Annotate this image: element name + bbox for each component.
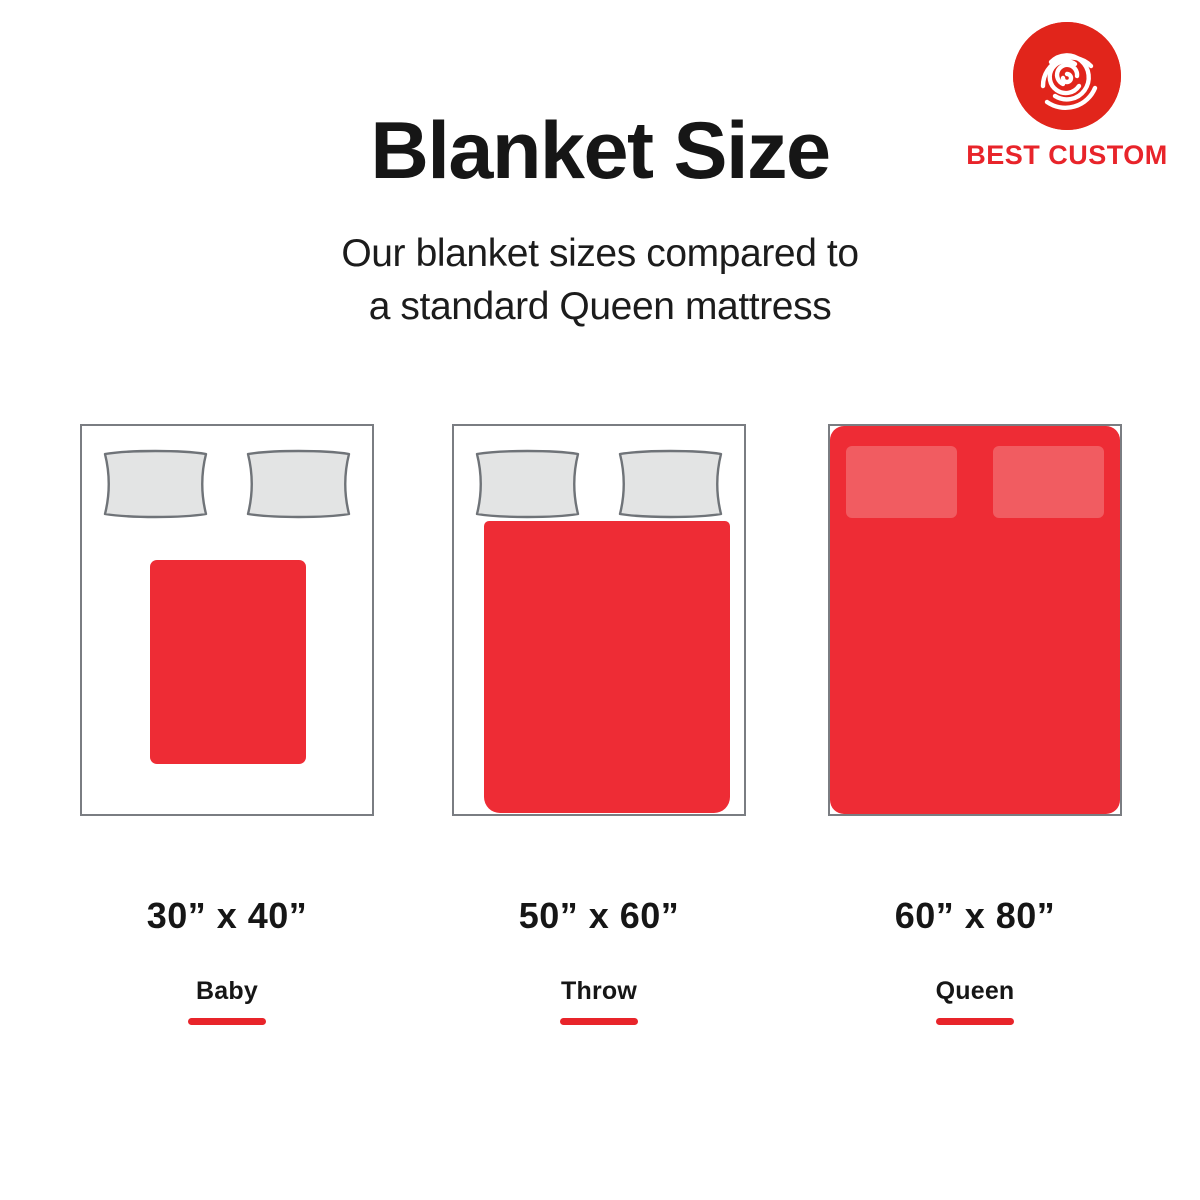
- bed-comparison-row: [0, 424, 1200, 816]
- page-subtitle: Our blanket sizes compared to a standard…: [0, 228, 1200, 333]
- pillow-icon: [846, 446, 957, 518]
- page-title: Blanket Size: [0, 108, 1200, 195]
- accent-underline: [188, 1018, 266, 1025]
- blanket-dimensions: 30” x 40”: [80, 898, 374, 934]
- pillow-icon: [993, 446, 1104, 518]
- subtitle-line-1: Our blanket sizes compared to: [0, 228, 1200, 281]
- blanket-shape-baby: [150, 560, 306, 764]
- pillow-icon: [472, 448, 583, 520]
- pillow-icon: [100, 448, 211, 520]
- blanket-shape-queen: [830, 426, 1120, 814]
- accent-underline: [560, 1018, 638, 1025]
- pillow-icon: [615, 448, 726, 520]
- blanket-dimensions: 50” x 60”: [452, 898, 746, 934]
- bed-diagram-baby: [80, 424, 374, 816]
- accent-underline: [936, 1018, 1014, 1025]
- pillow-icon: [243, 448, 354, 520]
- bed-diagram-throw: [452, 424, 746, 816]
- caption-throw: 50” x 60” Throw: [452, 898, 746, 1025]
- subtitle-line-2: a standard Queen mattress: [0, 281, 1200, 334]
- blanket-shape-throw: [484, 521, 730, 813]
- caption-queen: 60” x 80” Queen: [828, 898, 1122, 1025]
- blanket-name: Baby: [80, 979, 374, 1004]
- caption-row: 30” x 40” Baby 50” x 60” Throw 60” x 80”…: [0, 898, 1200, 1048]
- blanket-dimensions: 60” x 80”: [828, 898, 1122, 934]
- blanket-name: Queen: [828, 979, 1122, 1004]
- infographic-canvas: BEST CUSTOM Blanket Size Our blanket siz…: [0, 0, 1200, 1200]
- bed-diagram-queen: [828, 424, 1122, 816]
- caption-baby: 30” x 40” Baby: [80, 898, 374, 1025]
- blanket-name: Throw: [452, 979, 746, 1004]
